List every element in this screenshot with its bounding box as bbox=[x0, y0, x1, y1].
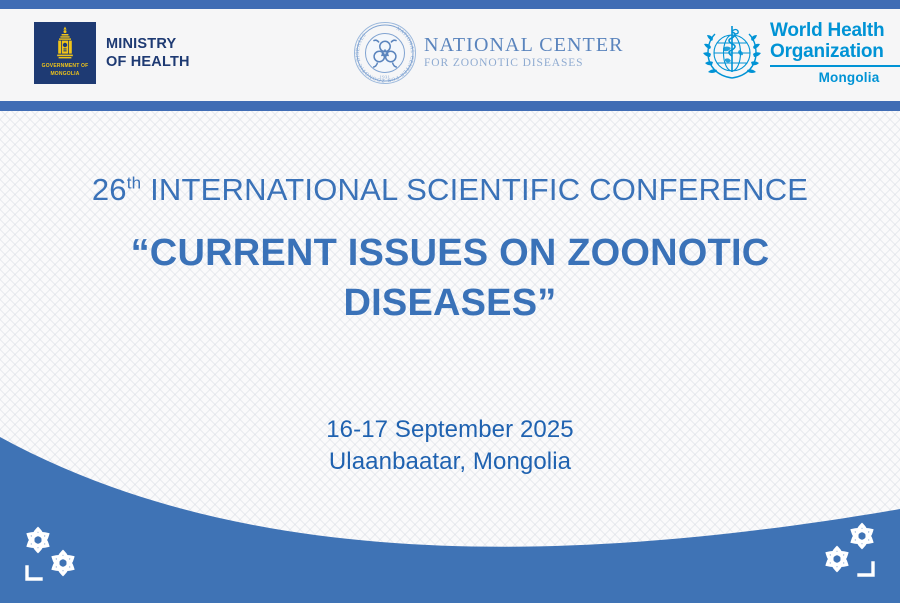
ministry-name-line1: MINISTRY bbox=[106, 35, 190, 53]
top-accent-bar bbox=[0, 0, 900, 9]
who-divider bbox=[770, 65, 900, 67]
nczd-name: NATIONAL CENTER FOR ZOONOTIC DISEASES bbox=[424, 35, 624, 71]
mongolian-knot-ornament-left bbox=[14, 519, 100, 585]
ministry-name-line2: OF HEALTH bbox=[106, 53, 190, 71]
ministry-of-health-logo: GOVERNMENT OF MONGOLIA MINISTRY OF HEALT… bbox=[34, 22, 190, 84]
soyombo-icon bbox=[50, 26, 80, 62]
svg-text:1931: 1931 bbox=[380, 75, 391, 80]
page-title: “CURRENT ISSUES ON ZOONOTIC DISEASES” bbox=[0, 228, 900, 328]
mongolian-knot-ornament-right bbox=[800, 515, 886, 581]
nczd-seal-icon: NATIONAL CENTER FOR ZOONOTIC DISEASES 19… bbox=[352, 20, 418, 86]
who-country-label: Mongolia bbox=[770, 70, 900, 85]
edition-rest: INTERNATIONAL SCIENTIFIC CONFERENCE bbox=[141, 172, 808, 207]
edition-ordinal: th bbox=[127, 174, 142, 193]
event-meta-block: 16-17 September 2025 Ulaanbaatar, Mongol… bbox=[0, 414, 900, 478]
ministry-of-health-name: MINISTRY OF HEALTH bbox=[106, 35, 190, 71]
who-logo: World Health Organization Mongolia bbox=[701, 20, 900, 85]
nczd-name-line2: FOR ZOONOTIC DISEASES bbox=[424, 56, 624, 71]
nczd-name-line1: NATIONAL CENTER bbox=[424, 35, 624, 56]
conference-edition-line: 26th INTERNATIONAL SCIENTIFIC CONFERENCE bbox=[0, 170, 900, 210]
event-location: Ulaanbaatar, Mongolia bbox=[0, 446, 900, 478]
who-name-line2: Organization bbox=[770, 41, 900, 62]
emblem-caption-line1: GOVERNMENT OF bbox=[42, 63, 89, 70]
edition-number: 26 bbox=[92, 172, 127, 207]
who-name: World Health Organization Mongolia bbox=[770, 20, 900, 85]
who-emblem-icon bbox=[701, 22, 763, 84]
header-divider-bar bbox=[0, 101, 900, 111]
conference-title-slide: GOVERNMENT OF MONGOLIA MINISTRY OF HEALT… bbox=[0, 0, 900, 603]
nczd-logo: NATIONAL CENTER FOR ZOONOTIC DISEASES 19… bbox=[352, 20, 624, 86]
mongolia-state-emblem: GOVERNMENT OF MONGOLIA bbox=[34, 22, 96, 84]
emblem-caption-line2: MONGOLIA bbox=[50, 71, 79, 78]
title-block: 26th INTERNATIONAL SCIENTIFIC CONFERENCE… bbox=[0, 170, 900, 328]
event-date: 16-17 September 2025 bbox=[0, 414, 900, 446]
who-name-line1: World Health bbox=[770, 20, 900, 41]
